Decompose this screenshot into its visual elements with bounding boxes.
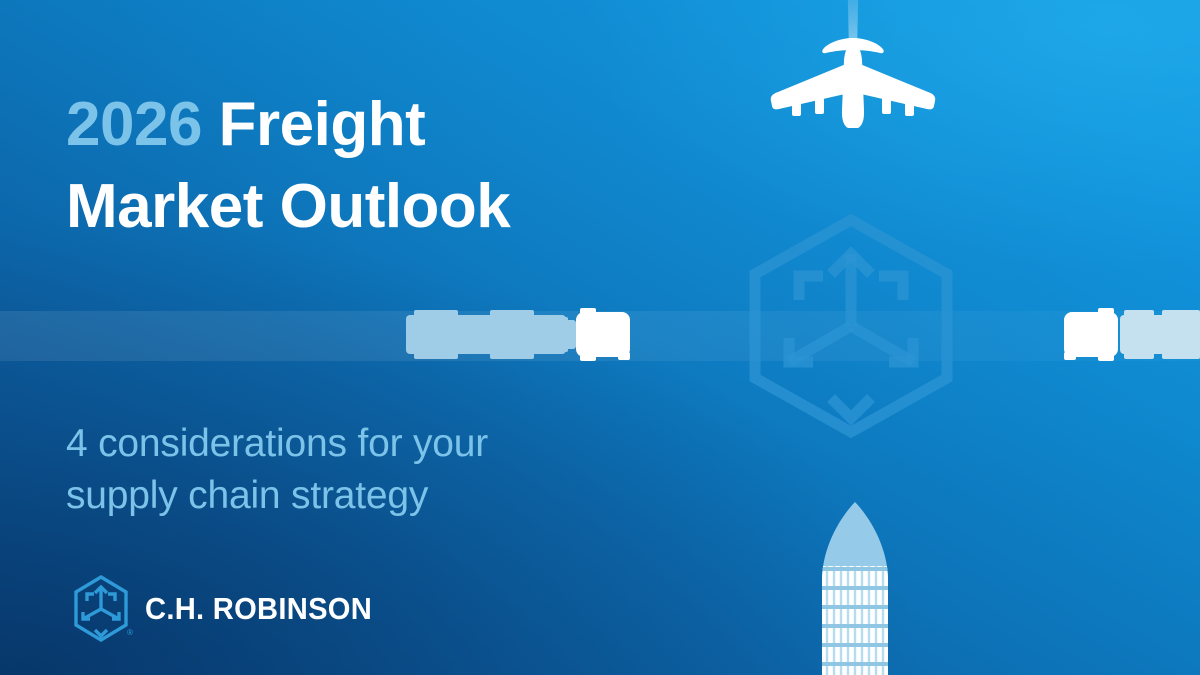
hexagon-watermark-icon bbox=[735, 212, 967, 440]
hexagon-cube-arrows-watermark bbox=[735, 212, 967, 440]
hexagon-logo-icon bbox=[70, 574, 132, 644]
subtitle-line1: 4 considerations for your bbox=[66, 422, 488, 465]
ch-robinson-hexagon-cube-arrows-icon: ® bbox=[70, 574, 132, 644]
page-title: 2026 Freight Market Outlook bbox=[66, 84, 706, 248]
container-ship-graphic bbox=[800, 500, 910, 675]
semi-truck-right-graphic bbox=[1058, 306, 1200, 364]
headline-year: 2026 bbox=[66, 90, 202, 159]
airplane-body bbox=[771, 38, 935, 128]
container-ship-icon bbox=[800, 500, 910, 675]
truck-trailer bbox=[406, 310, 576, 359]
registered-trademark-mark: ® bbox=[127, 629, 133, 637]
subtitle-line2: supply chain strategy bbox=[66, 474, 428, 517]
airplane-graphic bbox=[758, 0, 948, 160]
truck-cab bbox=[1064, 308, 1118, 361]
page-subtitle: 4 considerations for your supply chain s… bbox=[66, 418, 666, 522]
brand-logo-lockup[interactable]: ® C.H. ROBINSON bbox=[70, 572, 387, 646]
truck-trailer bbox=[1120, 310, 1200, 359]
headline-line2: Market Outlook bbox=[66, 172, 510, 241]
banner-canvas: 2026 Freight Market Outlook 4 considerat… bbox=[0, 0, 1200, 675]
airplane-icon bbox=[758, 0, 948, 160]
semi-truck-icon bbox=[1058, 306, 1200, 364]
headline-line1-rest: Freight bbox=[202, 90, 425, 159]
semi-truck-left-graphic bbox=[404, 306, 636, 364]
brand-wordmark: C.H. ROBINSON bbox=[145, 591, 372, 627]
ship-containers bbox=[822, 566, 888, 675]
semi-truck-icon bbox=[404, 306, 636, 364]
truck-cab bbox=[576, 308, 630, 361]
